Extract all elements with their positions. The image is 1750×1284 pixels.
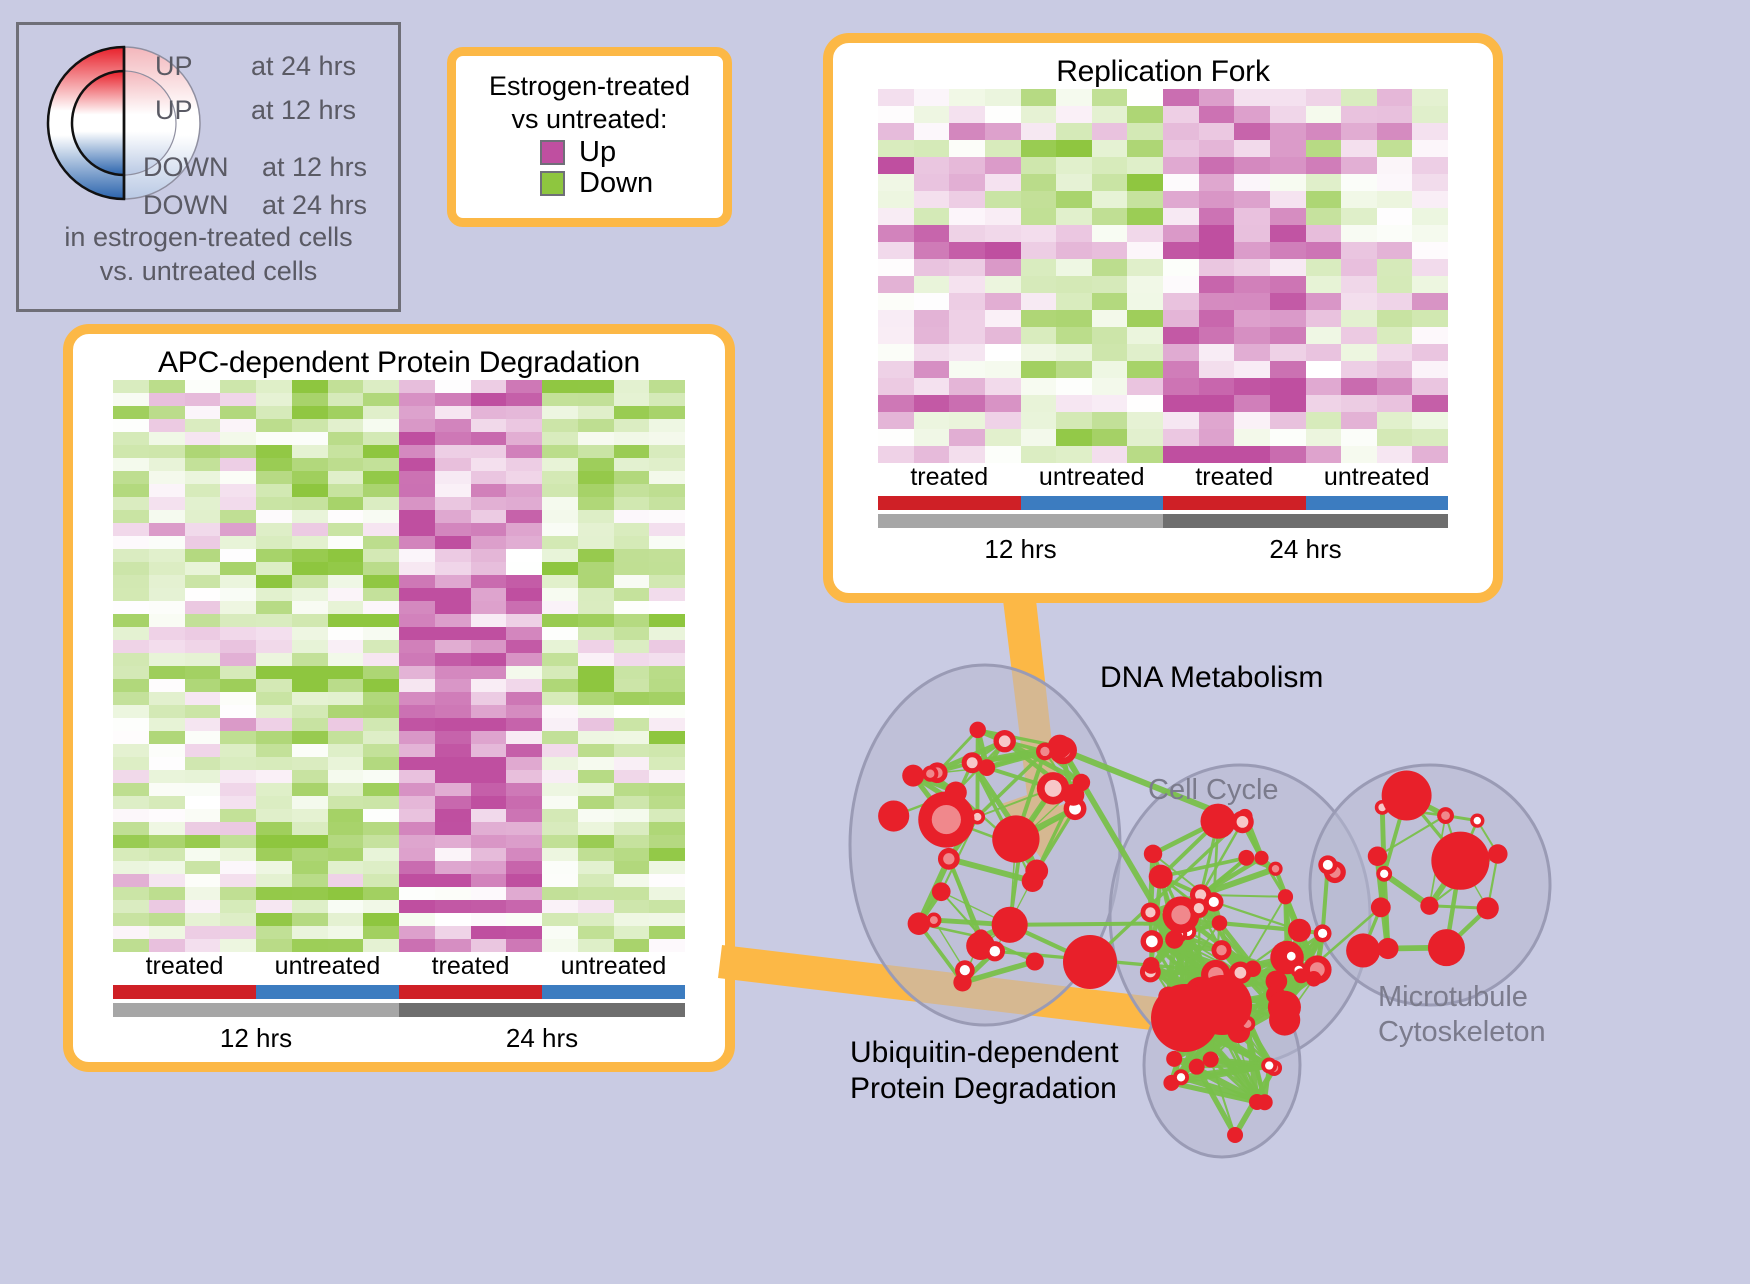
node-outer	[1368, 846, 1387, 865]
node-outer	[1288, 919, 1311, 942]
wheel-time-down-12: at 12 hrs	[262, 152, 367, 183]
network-node[interactable]	[1377, 938, 1398, 959]
network-node[interactable]	[1288, 919, 1311, 942]
network-node[interactable]	[1420, 897, 1438, 915]
network-node[interactable]	[1192, 975, 1252, 1035]
node-inner	[1272, 865, 1279, 872]
panel-replication-fork: Replication Fork treateduntreatedtreated…	[823, 33, 1503, 603]
group-label: untreated	[1306, 463, 1449, 492]
node-outer	[1278, 889, 1293, 904]
network-node[interactable]	[973, 929, 989, 945]
network-node[interactable]	[1428, 929, 1465, 966]
network-node[interactable]	[1254, 851, 1268, 865]
wheel-time-up-24: at 24 hrs	[251, 51, 356, 82]
timepoint-bars-replication-fork	[878, 514, 1448, 528]
node-outer	[973, 929, 989, 945]
wheel-time-down-24: at 24 hrs	[262, 190, 367, 221]
network-node[interactable]	[1261, 1058, 1277, 1074]
node-inner	[1235, 967, 1247, 979]
wheel-legend-caption: in estrogen-treated cells vs. untreated …	[19, 221, 398, 289]
node-outer	[978, 759, 995, 776]
node-outer	[1025, 860, 1048, 883]
node-outer	[992, 815, 1039, 862]
network-node[interactable]	[1144, 845, 1162, 863]
node-outer	[969, 722, 985, 738]
timepoint-bars-apc	[113, 1003, 685, 1017]
node-inner	[1177, 1073, 1185, 1081]
network-node[interactable]	[1268, 991, 1301, 1024]
node-inner	[926, 770, 934, 778]
key-title: Estrogen-treated vs untreated:	[466, 70, 713, 136]
node-outer	[908, 912, 931, 935]
node-outer	[1026, 952, 1044, 970]
timepoint-bar	[878, 514, 1163, 528]
group-bars-apc	[113, 985, 685, 999]
network-node[interactable]	[922, 766, 938, 782]
timepoint-bar	[399, 1003, 685, 1017]
node-outer	[1063, 935, 1117, 989]
group-label: untreated	[256, 952, 399, 981]
network-node[interactable]	[1488, 844, 1508, 864]
node-outer	[1346, 933, 1380, 967]
node-outer	[1144, 845, 1162, 863]
key-entry-down: Down	[540, 169, 713, 198]
node-outer	[1254, 851, 1268, 865]
network-node[interactable]	[1149, 865, 1173, 889]
node-outer	[1382, 771, 1432, 821]
node-inner	[943, 853, 954, 864]
key-title-line-2: vs untreated:	[466, 103, 713, 136]
network-node[interactable]	[902, 765, 924, 787]
timepoint-labels-apc: 12 hrs24 hrs	[113, 1017, 685, 1054]
wheel-caption-line-2: vs. untreated cells	[19, 255, 398, 289]
key-entry-up: Up	[540, 138, 713, 167]
network-node[interactable]	[1368, 846, 1387, 865]
timepoint-label: 24 hrs	[399, 1017, 685, 1054]
node-outer	[1203, 1052, 1219, 1068]
node-inner	[1237, 816, 1249, 828]
network-node[interactable]	[932, 882, 951, 901]
network-node[interactable]	[1278, 889, 1293, 904]
network-node[interactable]	[1063, 935, 1117, 989]
network-node[interactable]	[878, 800, 909, 831]
group-labels-apc: treateduntreatedtreateduntreated	[113, 952, 685, 981]
cluster-label-dna-metabolism: DNA Metabolism	[1100, 660, 1323, 696]
node-outer	[902, 765, 924, 787]
node-outer	[1200, 804, 1235, 839]
network-node[interactable]	[1062, 784, 1084, 806]
node-outer	[1294, 968, 1309, 983]
node-inner	[1216, 945, 1226, 955]
network-graph: DNA Metabolism Cell Cycle Microtubule Cy…	[790, 610, 1750, 1279]
node-outer	[1428, 929, 1465, 966]
network-node[interactable]	[985, 941, 1005, 961]
timepoint-label: 12 hrs	[878, 528, 1163, 565]
node-outer	[1192, 975, 1252, 1035]
network-node[interactable]	[1294, 968, 1309, 983]
node-outer	[1227, 1127, 1243, 1143]
node-outer	[932, 882, 951, 901]
key-label-down: Down	[579, 169, 653, 198]
network-node[interactable]	[1249, 1094, 1265, 1110]
cluster-label-cell-cycle: Cell Cycle	[1148, 773, 1279, 808]
node-inner	[1171, 905, 1190, 924]
group-bar	[399, 985, 542, 999]
node-inner	[960, 965, 970, 975]
group-label: treated	[878, 463, 1021, 492]
network-node[interactable]	[1477, 897, 1499, 919]
network-node[interactable]	[1231, 811, 1254, 834]
network-node[interactable]	[1283, 948, 1300, 965]
node-outer	[878, 800, 909, 831]
node-outer	[992, 907, 1028, 943]
network-node[interactable]	[1200, 804, 1235, 839]
network-node[interactable]	[1166, 1051, 1182, 1067]
wheel-caption-line-1: in estrogen-treated cells	[19, 221, 398, 255]
node-inner	[1287, 952, 1296, 961]
panel-apc-degradation: APC-dependent Protein Degradation treate…	[63, 324, 735, 1072]
node-outer	[1249, 1094, 1265, 1110]
group-bar	[1306, 496, 1449, 510]
key-label-up: Up	[579, 138, 616, 167]
cluster-label-microtubule-cytoskeleton: Microtubule Cytoskeleton	[1378, 980, 1546, 1050]
network-node[interactable]	[938, 848, 960, 870]
panel-title-apc: APC-dependent Protein Degradation	[73, 346, 725, 380]
network-node[interactable]	[1026, 952, 1044, 970]
group-bars-replication-fork	[878, 496, 1448, 510]
network-node[interactable]	[1431, 832, 1489, 890]
group-label: treated	[399, 952, 542, 981]
timepoint-label: 24 hrs	[1163, 528, 1448, 565]
node-outer	[1371, 897, 1391, 917]
wheel-keyword-down-24: DOWN	[143, 190, 228, 221]
group-labels-replication-fork: treateduntreatedtreateduntreated	[878, 463, 1448, 492]
node-inner	[1146, 935, 1158, 947]
network-svg	[790, 610, 1750, 1279]
node-inner	[1045, 780, 1062, 797]
network-node[interactable]	[908, 912, 931, 935]
wheel-time-up-12: at 12 hrs	[251, 95, 356, 126]
node-inner	[930, 916, 938, 924]
down-swatch-icon	[540, 171, 565, 196]
updown-key-box: Estrogen-treated vs untreated: Up Down	[447, 47, 732, 227]
node-inner	[990, 946, 1001, 957]
wheel-keyword-up-12: UP	[155, 95, 193, 126]
network-node[interactable]	[1173, 1069, 1189, 1085]
node-inner	[1441, 811, 1450, 820]
group-label: untreated	[1021, 463, 1164, 492]
network-node[interactable]	[978, 759, 995, 776]
node-inner	[1040, 747, 1049, 756]
network-node[interactable]	[993, 730, 1015, 752]
group-bar	[256, 985, 399, 999]
node-outer	[1420, 897, 1438, 915]
group-bar	[542, 985, 685, 999]
network-node[interactable]	[1036, 743, 1054, 761]
heatmap-replication-fork	[878, 89, 1448, 463]
node-outer	[1143, 957, 1160, 974]
node-inner	[999, 735, 1011, 747]
node-inner	[1145, 907, 1155, 917]
network-node[interactable]	[1143, 957, 1160, 974]
node-outer	[1431, 832, 1489, 890]
network-node[interactable]	[1346, 933, 1380, 967]
colour-wheel-legend: UP at 24 hrs UP at 12 hrs DOWN at 12 hrs…	[16, 22, 401, 312]
group-bar	[1021, 496, 1164, 510]
node-inner	[1194, 903, 1204, 913]
node-outer	[1189, 1059, 1205, 1075]
network-node[interactable]	[955, 960, 975, 980]
network-node[interactable]	[1189, 898, 1209, 918]
node-inner	[1323, 860, 1333, 870]
node-inner	[1318, 929, 1327, 938]
node-inner	[1265, 1061, 1273, 1069]
wheel-keyword-down-12: DOWN	[143, 152, 228, 183]
network-node[interactable]	[1437, 807, 1454, 824]
network-node[interactable]	[1306, 971, 1322, 987]
heatmap-apc	[113, 380, 685, 952]
node-outer	[1306, 971, 1322, 987]
network-node[interactable]	[1141, 930, 1164, 953]
node-outer	[1238, 850, 1254, 866]
network-node[interactable]	[1227, 1127, 1243, 1143]
figure-canvas: UP at 24 hrs UP at 12 hrs DOWN at 12 hrs…	[0, 0, 1750, 1279]
node-outer	[1149, 865, 1173, 889]
key-title-line-1: Estrogen-treated	[466, 70, 713, 103]
node-outer	[1268, 991, 1301, 1024]
group-bar	[113, 985, 256, 999]
network-node[interactable]	[1371, 897, 1391, 917]
timepoint-labels-replication-fork: 12 hrs24 hrs	[878, 528, 1448, 565]
network-node[interactable]	[992, 815, 1039, 862]
network-node[interactable]	[1203, 1052, 1219, 1068]
timepoint-bar	[113, 1003, 399, 1017]
group-label: treated	[113, 952, 256, 981]
group-bar	[878, 496, 1021, 510]
network-node[interactable]	[1268, 862, 1282, 876]
group-label: untreated	[542, 952, 685, 981]
node-outer	[1488, 844, 1508, 864]
node-outer	[1212, 915, 1228, 931]
network-node[interactable]	[1238, 850, 1254, 866]
node-inner	[967, 757, 978, 768]
network-node[interactable]	[969, 722, 985, 738]
timepoint-label: 12 hrs	[113, 1017, 399, 1054]
network-node[interactable]	[1211, 940, 1231, 960]
network-node[interactable]	[992, 907, 1028, 943]
node-outer	[1477, 897, 1499, 919]
cluster-label-ubiquitin-degradation: Ubiquitin-dependent Protein Degradation	[850, 1035, 1119, 1107]
node-inner	[973, 813, 981, 821]
group-label: treated	[1163, 463, 1306, 492]
network-node[interactable]	[1212, 915, 1228, 931]
up-swatch-icon	[540, 140, 565, 165]
node-outer	[1377, 938, 1398, 959]
network-node[interactable]	[918, 791, 974, 847]
timepoint-bar	[1163, 514, 1448, 528]
node-outer	[1062, 784, 1084, 806]
node-inner	[1474, 817, 1481, 824]
node-outer	[1166, 1051, 1182, 1067]
network-node[interactable]	[1025, 860, 1048, 883]
node-inner	[1380, 870, 1388, 878]
panel-title-replication-fork: Replication Fork	[833, 55, 1493, 89]
group-bar	[1163, 496, 1306, 510]
network-node[interactable]	[1141, 903, 1161, 923]
network-node[interactable]	[1314, 924, 1332, 942]
network-node[interactable]	[1318, 855, 1337, 874]
node-inner	[932, 805, 961, 834]
network-node[interactable]	[1189, 1059, 1205, 1075]
network-node[interactable]	[1470, 813, 1484, 827]
network-node[interactable]	[926, 913, 941, 928]
network-node[interactable]	[1382, 771, 1432, 821]
network-node[interactable]	[1376, 866, 1392, 882]
wheel-keyword-up-24: UP	[155, 51, 193, 82]
node-inner	[1209, 897, 1219, 907]
